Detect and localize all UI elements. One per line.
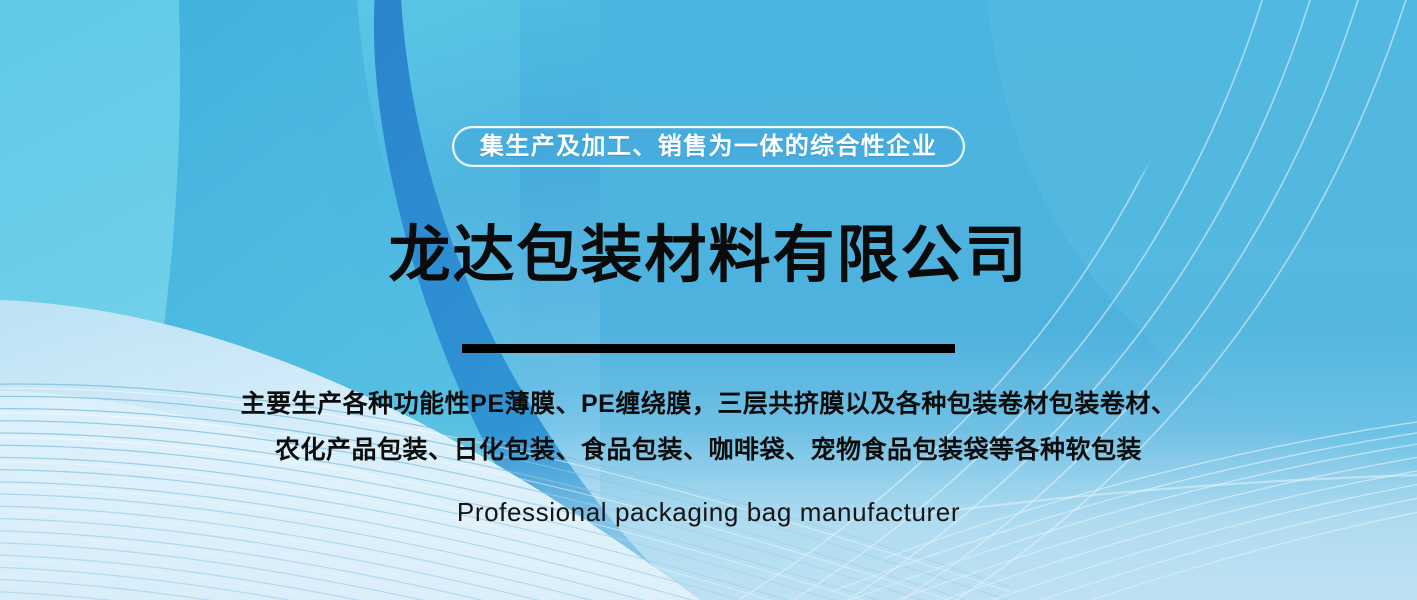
description-line-2: 农化产品包装、日化包装、食品包装、咖啡袋、宠物食品包装袋等各种软包装 bbox=[241, 427, 1177, 473]
promo-banner: 集生产及加工、销售为一体的综合性企业 龙达包装材料有限公司 主要生产各种功能性P… bbox=[0, 0, 1417, 600]
banner-content: 集生产及加工、销售为一体的综合性企业 龙达包装材料有限公司 主要生产各种功能性P… bbox=[0, 0, 1417, 600]
tagline-badge: 集生产及加工、销售为一体的综合性企业 bbox=[452, 126, 965, 167]
description-block: 主要生产各种功能性PE薄膜、PE缠绕膜，三层共挤膜以及各种包装卷材包装卷材、 农… bbox=[241, 381, 1177, 473]
tagline-badge-label: 集生产及加工、销售为一体的综合性企业 bbox=[480, 135, 937, 159]
company-title-group: 龙达包装材料有限公司 bbox=[388, 181, 1028, 353]
company-title: 龙达包装材料有限公司 bbox=[388, 223, 1028, 290]
title-underline-rule bbox=[462, 344, 955, 353]
english-tagline: Professional packaging bag manufacturer bbox=[457, 497, 960, 528]
description-line-1: 主要生产各种功能性PE薄膜、PE缠绕膜，三层共挤膜以及各种包装卷材包装卷材、 bbox=[241, 381, 1177, 427]
